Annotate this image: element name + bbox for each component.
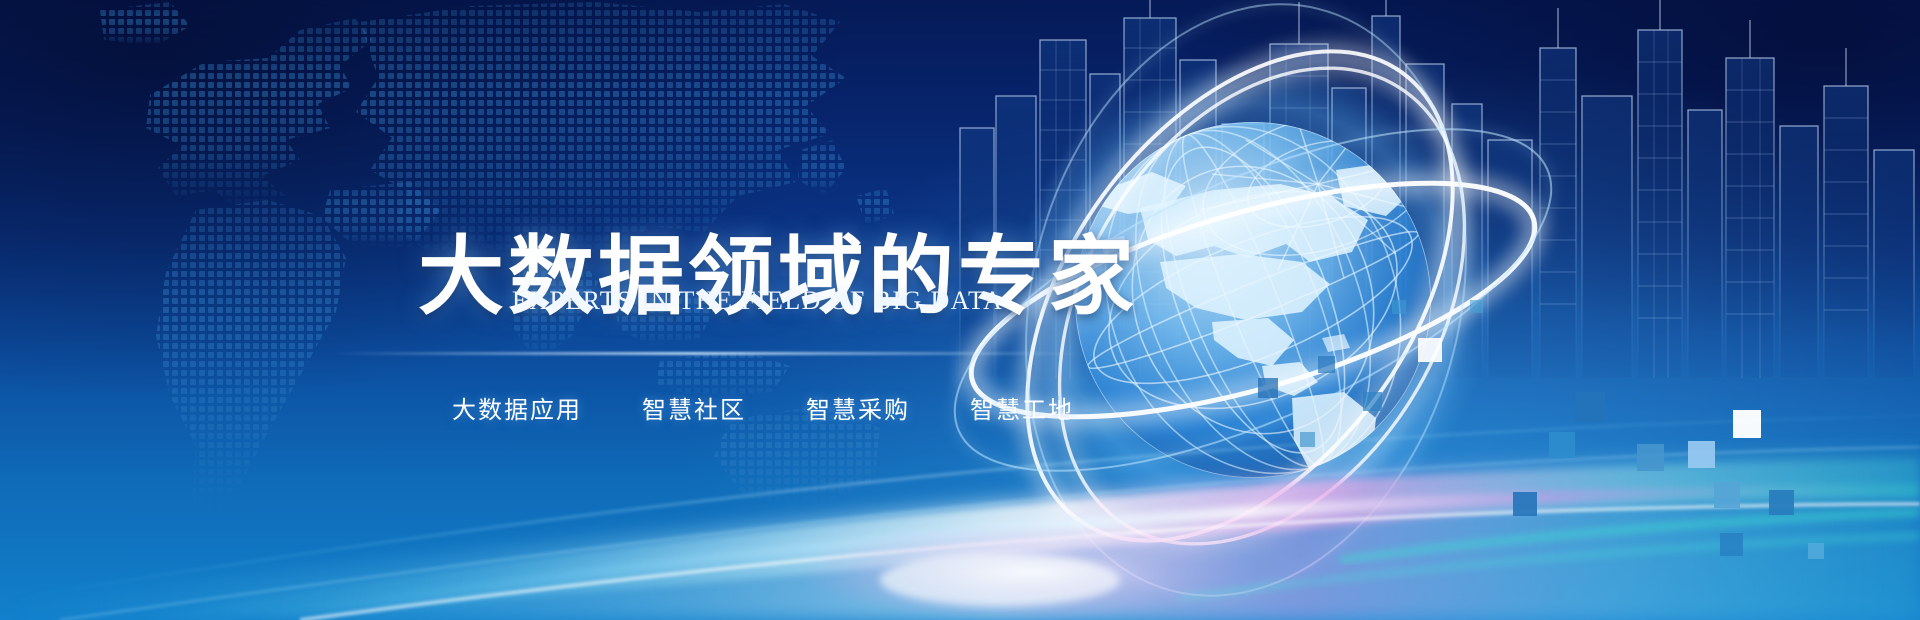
divider bbox=[330, 352, 1090, 355]
page-subtitle: EXPERTS IN THE FIELD OF BIG DATA bbox=[512, 288, 1003, 314]
nav-link-3[interactable]: 智慧工地 bbox=[970, 390, 1074, 425]
nav-link-2[interactable]: 智慧采购 bbox=[806, 390, 910, 425]
nav-link-0[interactable]: 大数据应用 bbox=[452, 390, 582, 425]
nav-link-1[interactable]: 智慧社区 bbox=[642, 390, 746, 425]
banner-content: 大数据领域的专家 EXPERTS IN THE FIELD OF BIG DAT… bbox=[0, 0, 1920, 620]
hero-banner: 大数据领域的专家 EXPERTS IN THE FIELD OF BIG DAT… bbox=[0, 0, 1920, 620]
banner-nav: 大数据应用智慧社区智慧采购智慧工地 bbox=[452, 390, 1074, 425]
